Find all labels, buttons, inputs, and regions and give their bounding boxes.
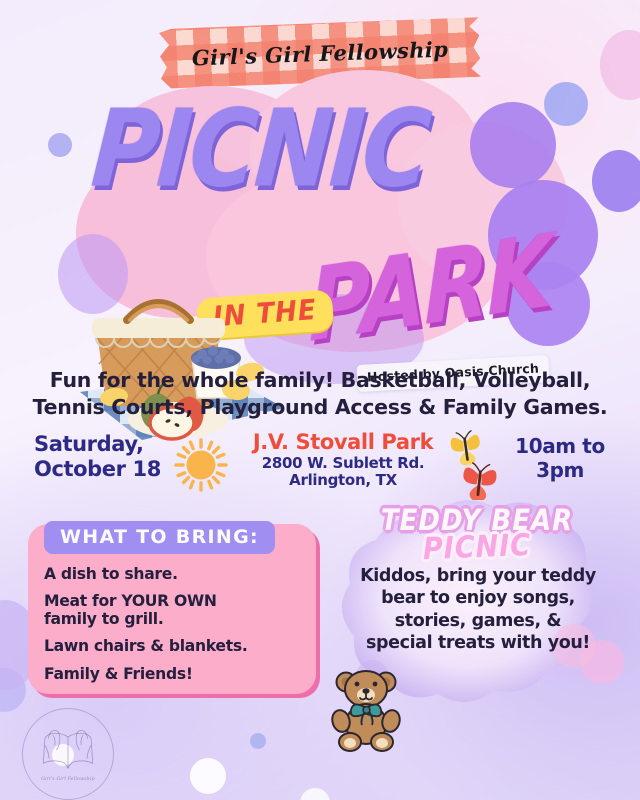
decor-circle-blue-small bbox=[250, 733, 266, 749]
what-to-bring-heading-chip: WHAT TO BRING: bbox=[44, 521, 275, 554]
subtitle-line-1: Fun for the whole family! Basketball, Vo… bbox=[0, 367, 640, 394]
teddy-bear-picnic-body: Kiddos, bring your teddy bear to enjoy s… bbox=[360, 565, 596, 655]
event-time-line-2: 3pm bbox=[500, 458, 620, 482]
butterflies-group bbox=[444, 430, 508, 500]
picnic-poster: Girl's Girl Fellowship PICNIC PARK IN TH… bbox=[0, 0, 640, 800]
subtitle: Fun for the whole family! Basketball, Vo… bbox=[0, 367, 640, 422]
event-location: J.V. Stovall Park 2800 W. Sublett Rd. Ar… bbox=[243, 430, 443, 490]
list-item: Family & Friends! bbox=[44, 666, 312, 683]
fellowship-logo-icon: Girl's Girl Fellowship bbox=[22, 708, 114, 800]
butterfly-yellow-icon bbox=[449, 430, 483, 467]
list-item: Lawn chairs & blankets. bbox=[44, 638, 312, 655]
event-date-line-2: October 18 bbox=[34, 457, 174, 482]
teddy-bear-picnic-title: TEDDY BEAR PICNIC bbox=[352, 506, 602, 563]
park-address: 2800 W. Sublett Rd. Arlington, TX bbox=[243, 455, 443, 490]
event-date-line-1: Saturday, bbox=[34, 432, 174, 457]
park-address-line-1: 2800 W. Sublett Rd. bbox=[243, 455, 443, 472]
event-date: Saturday, October 18 bbox=[34, 432, 174, 482]
butterfly-red-icon bbox=[461, 462, 498, 500]
list-item: Meat for YOUR OWN family to grill. bbox=[44, 593, 312, 628]
title-park: PARK bbox=[308, 227, 551, 352]
park-name: J.V. Stovall Park bbox=[243, 430, 443, 454]
sun-icon bbox=[172, 436, 230, 494]
title-picnic: PICNIC bbox=[89, 102, 432, 198]
park-address-line-2: Arlington, TX bbox=[243, 472, 443, 489]
logo-caption: Girl's Girl Fellowship bbox=[41, 777, 95, 782]
decor-circle-lavender-left-low bbox=[0, 668, 26, 712]
decor-circle-white-center bbox=[190, 758, 226, 794]
teddy-bear-icon bbox=[330, 663, 402, 755]
event-info-row: Saturday, October 18 J.V. Stovall Park 2… bbox=[0, 428, 640, 500]
event-time-line-1: 10am to bbox=[500, 434, 620, 458]
subtitle-line-2: Tennis Courts, Playground Access & Famil… bbox=[0, 394, 640, 421]
event-time: 10am to 3pm bbox=[500, 434, 620, 482]
what-to-bring-list: A dish to share. Meat for YOUR OWN famil… bbox=[44, 566, 312, 693]
what-to-bring-heading: WHAT TO BRING: bbox=[60, 526, 259, 548]
list-item: A dish to share. bbox=[44, 566, 312, 583]
title-area: PICNIC PARK IN THE Hosted by Oasis Churc… bbox=[0, 84, 640, 364]
title-cloud-violet-1 bbox=[470, 102, 556, 188]
decor-circle-white-bottom bbox=[300, 788, 330, 800]
